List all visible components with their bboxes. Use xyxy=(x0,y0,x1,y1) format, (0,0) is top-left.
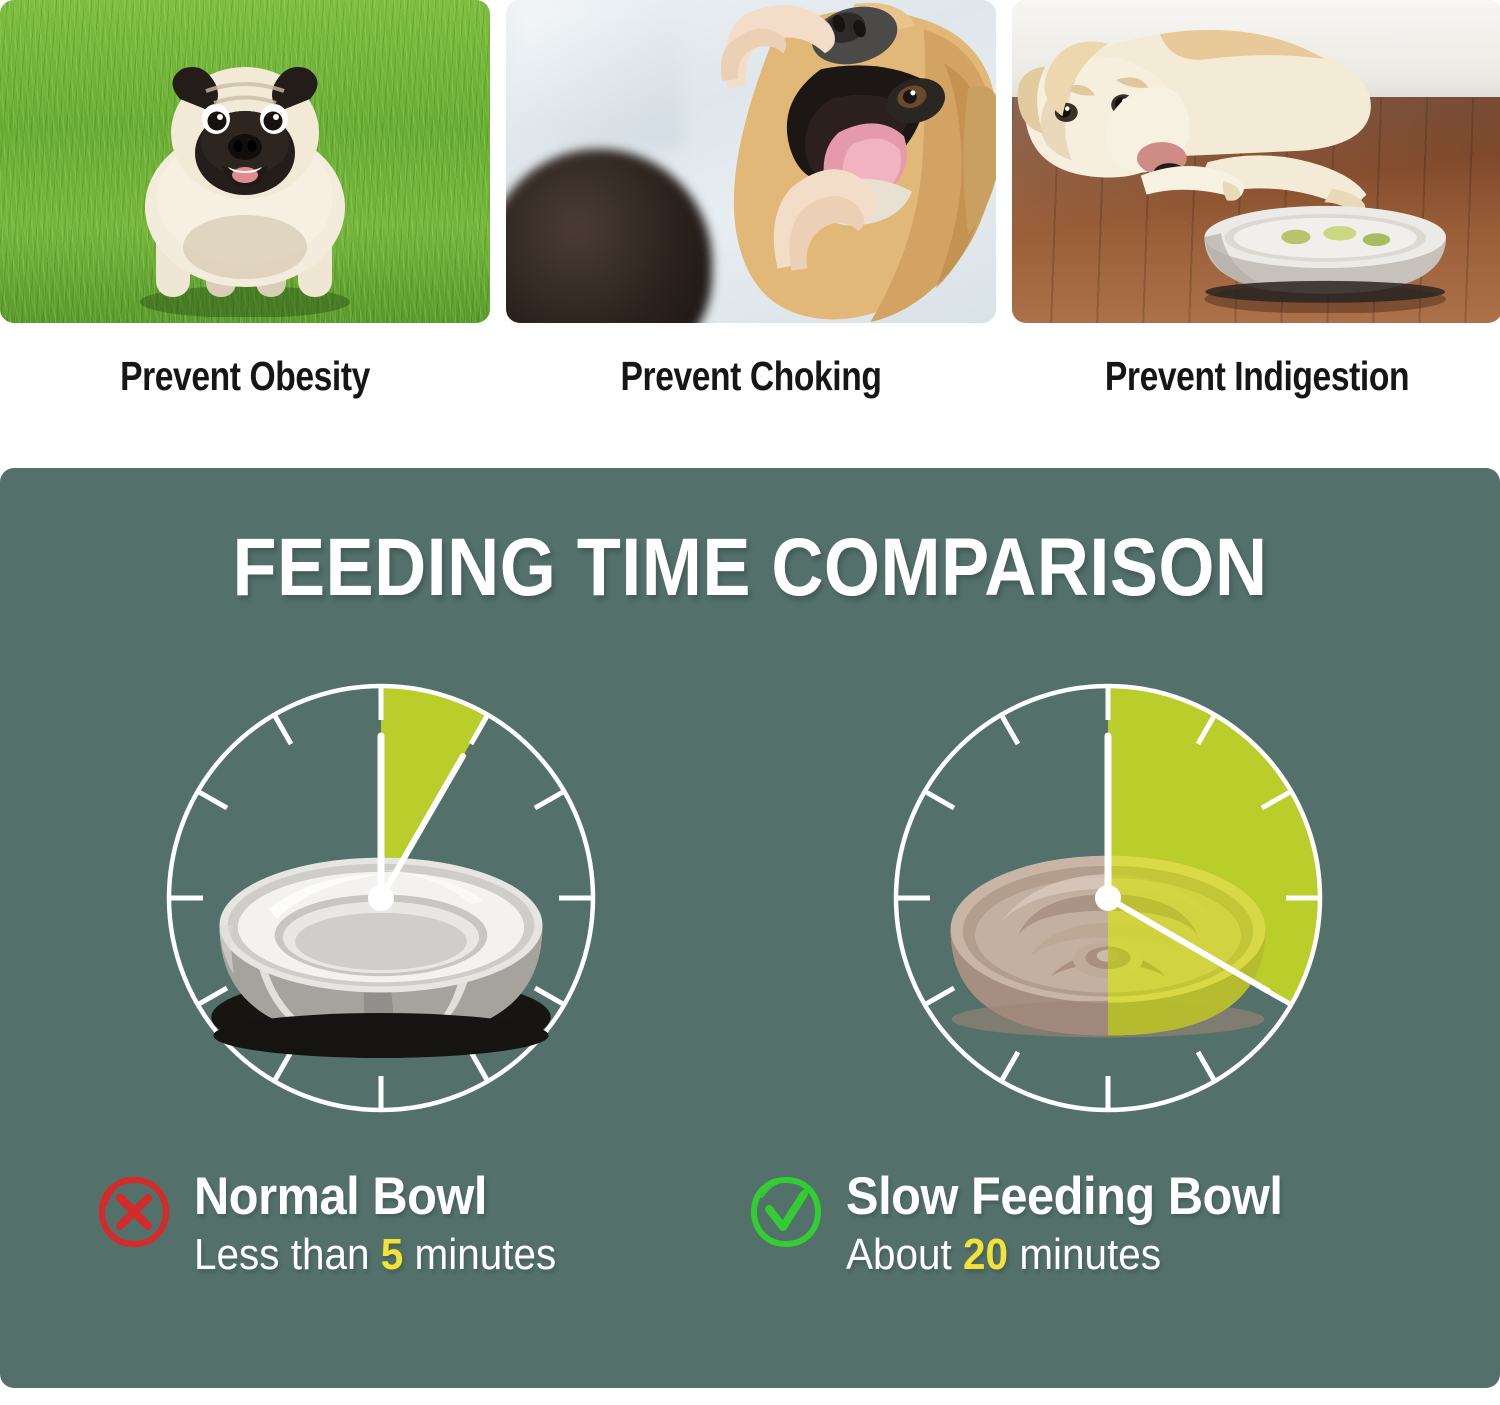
clock-comparison-area xyxy=(0,668,1500,1138)
result-slow-text: Slow Feeding Bowl About 20 minutes xyxy=(846,1168,1320,1282)
result-normal-sub-suffix: minutes xyxy=(403,1230,556,1279)
overweight-pug-illustration xyxy=(110,47,380,317)
cross-circle-icon xyxy=(96,1174,172,1250)
clock-hands-slow xyxy=(878,668,1338,1128)
result-normal-bowl: Normal Bowl Less than 5 minutes xyxy=(96,1168,588,1282)
check-circle-icon xyxy=(748,1174,824,1250)
benefit-caption-indigestion: Prevent Indigestion xyxy=(1056,353,1458,400)
result-normal-subtitle: Less than 5 minutes xyxy=(194,1227,556,1282)
result-slow-sub-suffix: minutes xyxy=(1008,1230,1161,1279)
result-slow-sub-value: 20 xyxy=(963,1230,1008,1279)
result-slow-sub-prefix: About xyxy=(846,1230,963,1279)
golden-retriever-mouth-exam-illustration xyxy=(624,0,996,323)
product-infographic: Prevent Obesity xyxy=(0,0,1500,1405)
clock-normal-bowl xyxy=(151,668,611,1128)
panel-title: FEEDING TIME COMPARISON xyxy=(90,521,1410,615)
feeding-time-comparison-panel: FEEDING TIME COMPARISON xyxy=(0,468,1500,1388)
benefits-strip: Prevent Obesity xyxy=(0,0,1500,430)
benefit-card-obesity: Prevent Obesity xyxy=(0,0,490,430)
stainless-steel-food-bowl xyxy=(1188,204,1462,314)
result-slow-subtitle: About 20 minutes xyxy=(846,1227,1282,1282)
clock-hands-normal xyxy=(151,668,611,1128)
result-normal-sub-value: 5 xyxy=(381,1230,404,1279)
result-normal-sub-prefix: Less than xyxy=(194,1230,381,1279)
result-normal-title: Normal Bowl xyxy=(194,1168,556,1225)
benefit-caption-obesity: Prevent Obesity xyxy=(44,353,446,400)
benefit-photo-obesity xyxy=(0,0,490,323)
benefit-photo-indigestion xyxy=(1012,0,1500,323)
benefit-caption-choking: Prevent Choking xyxy=(550,353,952,400)
result-slow-bowl: Slow Feeding Bowl About 20 minutes xyxy=(748,1168,1320,1282)
benefit-card-choking: Prevent Choking xyxy=(506,0,996,430)
benefit-photo-choking xyxy=(506,0,996,323)
result-slow-title: Slow Feeding Bowl xyxy=(846,1168,1282,1225)
result-normal-text: Normal Bowl Less than 5 minutes xyxy=(194,1168,588,1282)
result-labels: Normal Bowl Less than 5 minutes Slow Fee… xyxy=(0,1168,1500,1308)
clock-slow-feeding-bowl xyxy=(878,668,1338,1128)
benefit-card-indigestion: Prevent Indigestion xyxy=(1012,0,1500,430)
